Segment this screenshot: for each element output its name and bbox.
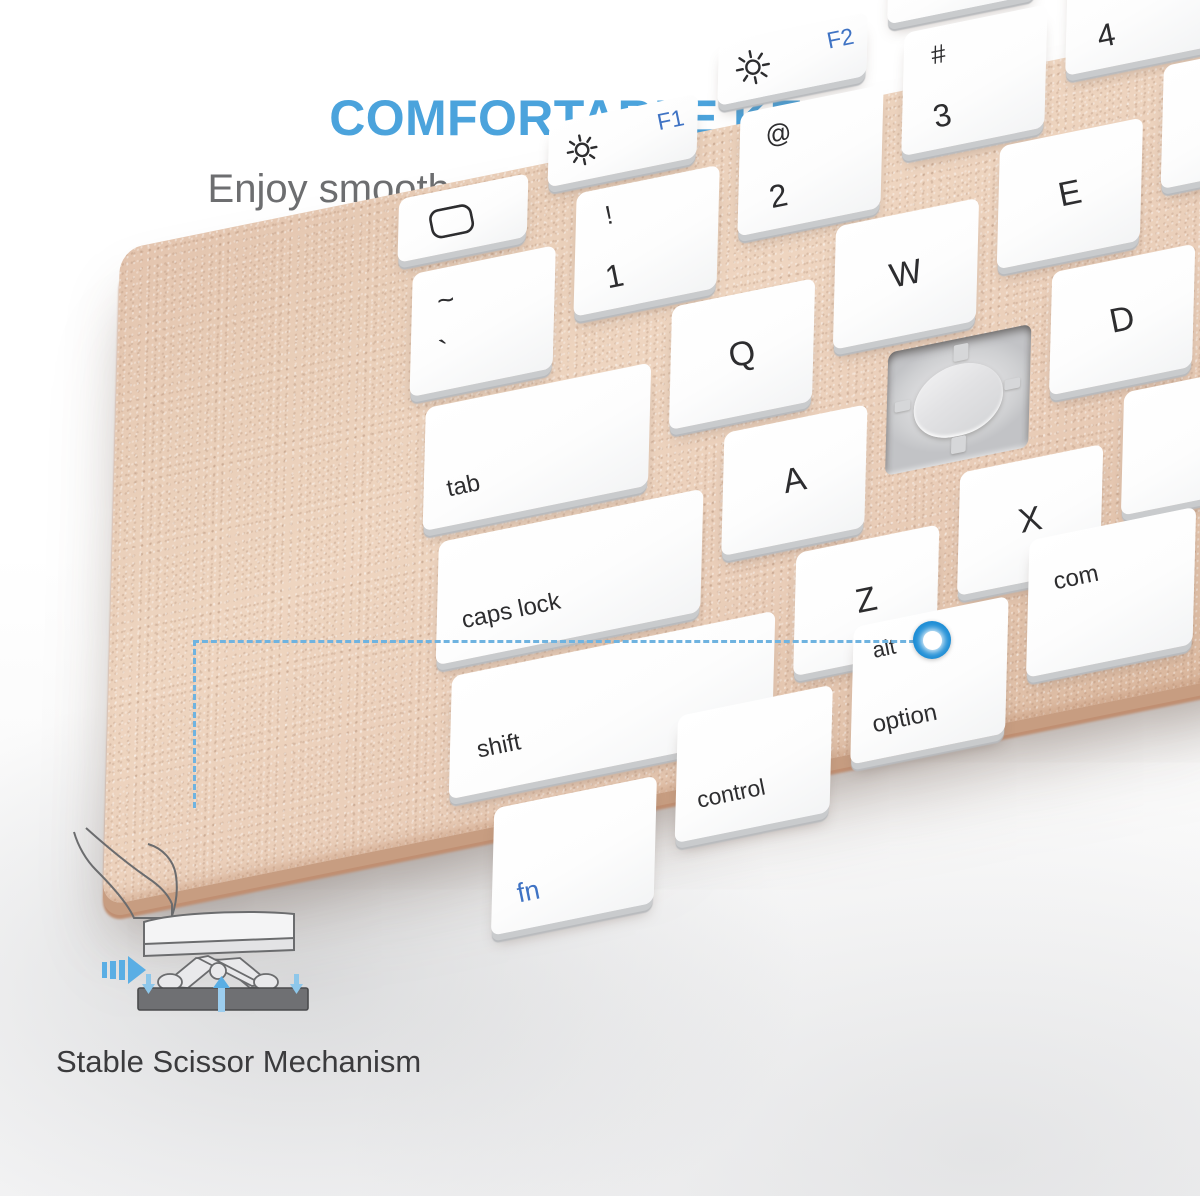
key-4-bottom-label: 4	[1094, 18, 1118, 53]
side-arrow-icon	[102, 956, 146, 984]
key-1[interactable]: ! 1	[573, 165, 719, 317]
key-command-label: com	[1051, 562, 1100, 595]
socket-post-left	[895, 400, 911, 413]
key-1-bottom-label: 1	[602, 259, 626, 294]
key-f1-label: F1	[655, 106, 686, 134]
key-2-bottom-label: 2	[766, 178, 790, 213]
key-fn-label: fn	[515, 876, 542, 907]
key-d-label: D	[1107, 300, 1138, 338]
key-caps-lock-label: caps lock	[460, 590, 563, 633]
finger-illustration	[74, 828, 177, 918]
callout-line-vertical	[193, 640, 196, 808]
key-grave[interactable]: ~ `	[410, 245, 556, 397]
key-x-label: X	[1016, 501, 1045, 539]
key-e[interactable]: E	[997, 117, 1143, 269]
key-q[interactable]: Q	[669, 278, 815, 430]
callout-marker-dot	[923, 631, 942, 650]
key-tab-label: tab	[445, 471, 482, 501]
key-q-label: Q	[726, 335, 759, 374]
key-3-bottom-label: 3	[930, 98, 954, 133]
scissor-mechanism-diagram: Stable Scissor Mechanism	[56, 826, 440, 1094]
key-c-partial[interactable]	[1121, 364, 1200, 516]
key-a[interactable]: A	[721, 404, 867, 556]
rounded-square-icon	[427, 202, 477, 245]
key-z-label: Z	[853, 582, 880, 619]
key-esc[interactable]	[397, 173, 528, 263]
callout-marker-icon[interactable]	[913, 621, 951, 659]
key-w-label: W	[887, 254, 925, 294]
search-icon	[904, 0, 945, 10]
key-shift-label: shift	[475, 730, 523, 762]
product-feature-image: COMFORTABLE KEYS Enjoy smooth and precis…	[0, 0, 1200, 1196]
key-control-label: control	[695, 775, 767, 811]
key-1-top-label: !	[603, 201, 615, 228]
key-fn[interactable]: fn	[491, 775, 657, 935]
key-grave-bottom-label: `	[437, 337, 453, 368]
scissor-diagram-caption: Stable Scissor Mechanism	[56, 1044, 440, 1080]
keycap-illustration	[144, 912, 294, 956]
brightness-up-icon	[732, 46, 775, 93]
key-r[interactable]: R	[1161, 37, 1200, 189]
key-f2-label: F2	[825, 25, 856, 53]
key-a-label: A	[780, 461, 809, 499]
key-d[interactable]: D	[1049, 243, 1195, 395]
key-3[interactable]: # 3	[901, 4, 1047, 156]
socket-post-bottom	[951, 435, 966, 454]
key-grave-top-label: ~	[434, 285, 457, 318]
brightness-down-icon	[562, 130, 603, 175]
socket-post-top	[954, 343, 969, 362]
key-option-bottom-label: option	[870, 701, 939, 738]
key-3-top-label: #	[929, 40, 948, 68]
key-2[interactable]: @ 2	[737, 84, 883, 236]
scissor-switch-mechanism	[913, 355, 1004, 444]
socket-post-right	[1004, 377, 1020, 390]
scissor-diagram-svg	[56, 826, 440, 1036]
keys-layer: F1 F2 F3 F4	[103, 0, 1200, 907]
key-2-top-label: @	[763, 118, 794, 149]
callout-line-horizontal	[193, 640, 933, 643]
key-socket-s-removed[interactable]	[885, 324, 1031, 476]
key-e-label: E	[1055, 175, 1084, 213]
key-w[interactable]: W	[833, 198, 979, 350]
